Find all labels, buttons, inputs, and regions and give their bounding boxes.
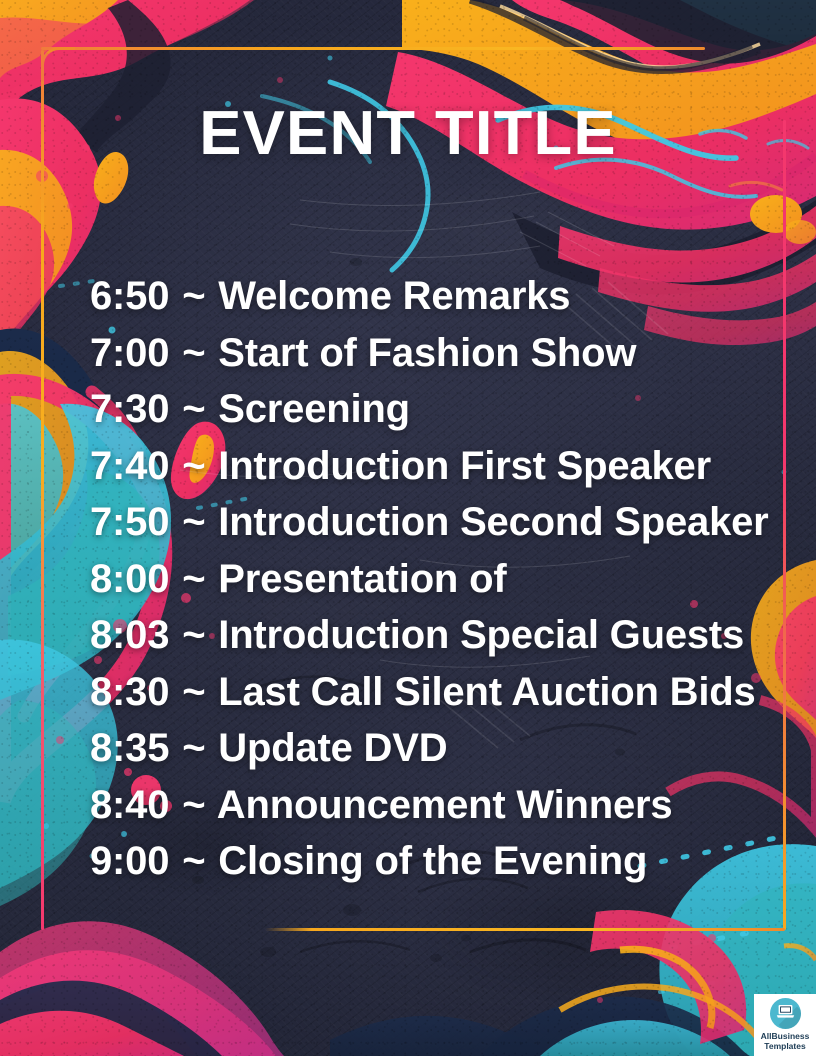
- schedule-description: Announcement Winners: [217, 783, 673, 827]
- schedule-row: 8:03 ~ Introduction Special Guests: [90, 607, 780, 664]
- schedule-list: 6:50 ~ Welcome Remarks 7:00 ~ Start of F…: [90, 268, 780, 890]
- schedule-time: 8:03: [90, 613, 169, 657]
- schedule-description: Closing of the Evening: [218, 839, 647, 883]
- watermark-logo-circle: [770, 998, 801, 1029]
- schedule-row: 7:00 ~ Start of Fashion Show: [90, 325, 780, 382]
- schedule-separator: ~: [180, 444, 207, 488]
- schedule-separator: ~: [180, 500, 207, 544]
- watermark-text: AllBusiness Templates: [761, 1031, 810, 1051]
- allbusiness-templates-watermark[interactable]: AllBusiness Templates: [754, 994, 816, 1056]
- schedule-time: 7:50: [90, 500, 169, 544]
- schedule-time: 8:40: [90, 783, 169, 827]
- watermark-text-line1: AllBusiness: [761, 1031, 810, 1041]
- schedule-row: 8:30 ~ Last Call Silent Auction Bids: [90, 664, 780, 721]
- frame-corner-top-left: [41, 47, 75, 81]
- schedule-row: 6:50 ~ Welcome Remarks: [90, 268, 780, 325]
- schedule-time: 7:40: [90, 444, 169, 488]
- schedule-description: Introduction Second Speaker: [218, 500, 768, 544]
- schedule-time: 8:35: [90, 726, 169, 770]
- schedule-description: Presentation of: [218, 557, 506, 601]
- schedule-description: Screening: [218, 387, 410, 431]
- schedule-description: Introduction First Speaker: [218, 444, 711, 488]
- frame-left-line: [41, 50, 44, 930]
- schedule-time: 8:30: [90, 670, 169, 714]
- schedule-row: 7:40 ~ Introduction First Speaker: [90, 438, 780, 495]
- frame-bottom-line: [265, 928, 785, 931]
- schedule-row: 7:50 ~ Introduction Second Speaker: [90, 494, 780, 551]
- schedule-separator: ~: [180, 670, 207, 714]
- schedule-separator: ~: [180, 783, 207, 827]
- schedule-row: 7:30 ~ Screening: [90, 381, 780, 438]
- schedule-time: 7:30: [90, 387, 169, 431]
- schedule-description: Last Call Silent Auction Bids: [218, 670, 755, 714]
- frame-top-line: [41, 47, 705, 50]
- event-schedule-poster: EVENT TITLE 6:50 ~ Welcome Remarks 7:00 …: [0, 0, 816, 1056]
- schedule-separator: ~: [180, 387, 207, 431]
- schedule-row: 8:40 ~ Announcement Winners: [90, 777, 780, 834]
- watermark-text-line2: Templates: [761, 1041, 810, 1051]
- schedule-time: 9:00: [90, 839, 169, 883]
- schedule-separator: ~: [180, 331, 207, 375]
- schedule-description: Update DVD: [218, 726, 447, 770]
- schedule-time: 8:00: [90, 557, 169, 601]
- schedule-row: 8:00 ~ Presentation of: [90, 551, 780, 608]
- schedule-description: Welcome Remarks: [218, 274, 570, 318]
- schedule-description: Introduction Special Guests: [218, 613, 744, 657]
- schedule-time: 7:00: [90, 331, 169, 375]
- schedule-row: 8:35 ~ Update DVD: [90, 720, 780, 777]
- frame-right-line: [783, 120, 786, 930]
- schedule-description: Start of Fashion Show: [218, 331, 636, 375]
- schedule-time: 6:50: [90, 274, 169, 318]
- page-title: EVENT TITLE: [0, 103, 816, 165]
- schedule-separator: ~: [180, 274, 207, 318]
- schedule-row: 9:00 ~ Closing of the Evening: [90, 833, 780, 890]
- schedule-separator: ~: [180, 726, 207, 770]
- schedule-separator: ~: [180, 557, 207, 601]
- schedule-separator: ~: [180, 839, 207, 883]
- laptop-icon: [776, 1004, 795, 1024]
- schedule-separator: ~: [180, 613, 207, 657]
